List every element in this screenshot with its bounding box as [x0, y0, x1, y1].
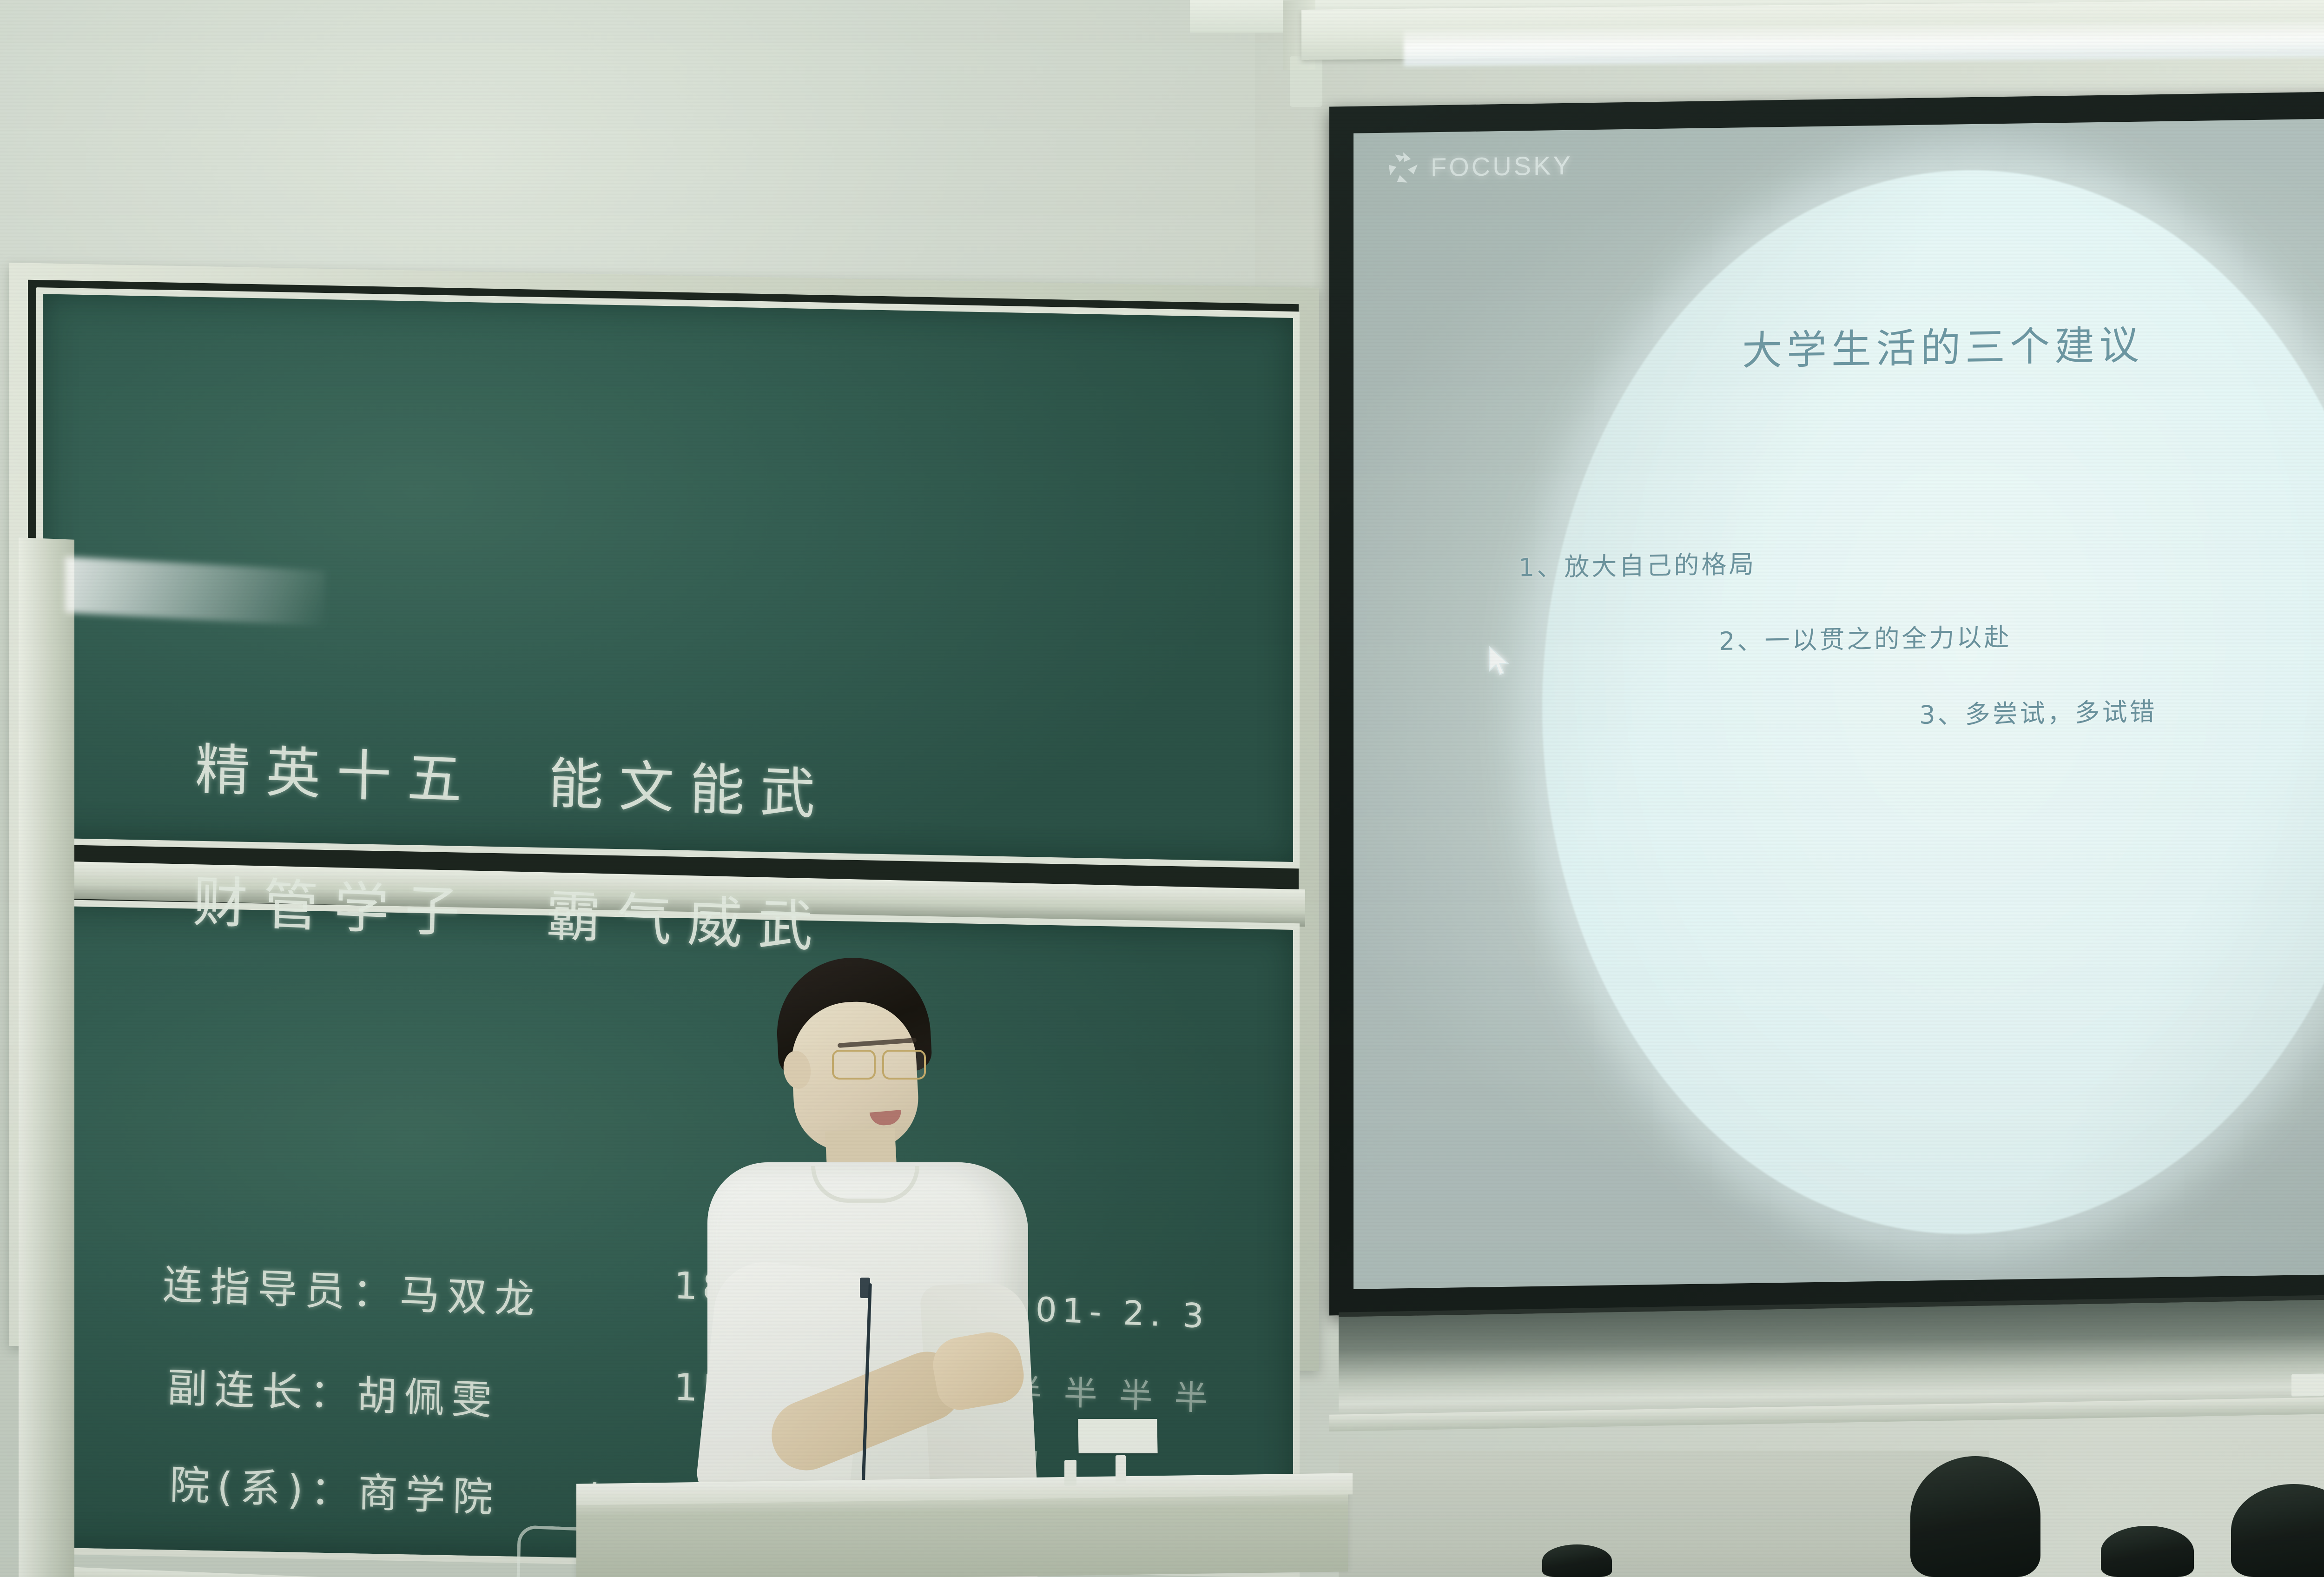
slide-bullet-2-index: 2、 — [1719, 626, 1764, 656]
focusky-wordmark: FOCUSKY — [1431, 150, 1573, 182]
audience-head — [1542, 1544, 1612, 1577]
projection-screen-surface: FOCUSKY 大学生活的三个建议 1、放大自己的格局 2、一以贯之的全力以赴 … — [1353, 116, 2324, 1289]
slide-bullet-1-text: 放大自己的格局 — [1564, 550, 1756, 582]
chalk-math-note-1: 201- 2. 3 — [1008, 1289, 1209, 1336]
classroom-photo-scene: FOCUSKY 大学生活的三个建议 1、放大自己的格局 2、一以贯之的全力以赴 … — [0, 0, 2324, 1577]
name-card-on-tray — [1078, 1419, 1157, 1453]
chalk-math-note-2: 半 半 半 半 — [1008, 1363, 1214, 1420]
audience-head — [2101, 1526, 2194, 1577]
slide-bullet-3-index: 3、 — [1919, 700, 1965, 729]
lectern-item-pen — [1116, 1455, 1126, 1486]
audience-head — [1910, 1456, 2040, 1577]
projection-screen: FOCUSKY 大学生活的三个建议 1、放大自己的格局 2、一以贯之的全力以赴 … — [1329, 89, 2324, 1316]
chalk-row-3-value: 商学院 — [357, 1469, 501, 1521]
eyeglass-lens-right — [882, 1050, 926, 1080]
slide-bullet-2-text: 一以贯之的全力以赴 — [1765, 623, 2012, 656]
slide-bullet-3: 3、多尝试，多试错 — [1919, 685, 2324, 731]
eyeglasses-icon — [832, 1050, 923, 1077]
chalk-row-1-label: 连指导员： — [162, 1262, 400, 1318]
chalk-row-1-value: 马双龙 — [399, 1271, 542, 1323]
focusky-aperture-icon — [1386, 150, 1420, 185]
hanging-tag — [1290, 56, 1322, 107]
lower-back-wall — [1339, 1451, 1989, 1577]
slide-bullet-2: 2、一以贯之的全力以赴 — [1719, 609, 2324, 657]
chalk-eraser — [2291, 1373, 2324, 1396]
lectern-item-marker — [1064, 1460, 1076, 1486]
chalkboard-left-post — [19, 537, 74, 1577]
slide-bullet-3-text: 多尝试，多试错 — [1965, 697, 2157, 729]
eyeglass-lens-left — [832, 1050, 876, 1080]
focusky-watermark: FOCUSKY — [1386, 148, 1573, 185]
chalkboard-frame: 精英十五 能文能武 财管学子 霸气威武 连指导员：马双龙 副连长：胡佩雯 院(系… — [9, 263, 1319, 1371]
chalk-row-2-label: 副连长： — [167, 1365, 357, 1418]
slide-bullet-1-index: 1、 — [1519, 552, 1564, 582]
chalk-row-2-value: 胡佩雯 — [357, 1372, 500, 1424]
chalk-row-3-label: 院(系)： — [169, 1462, 358, 1516]
